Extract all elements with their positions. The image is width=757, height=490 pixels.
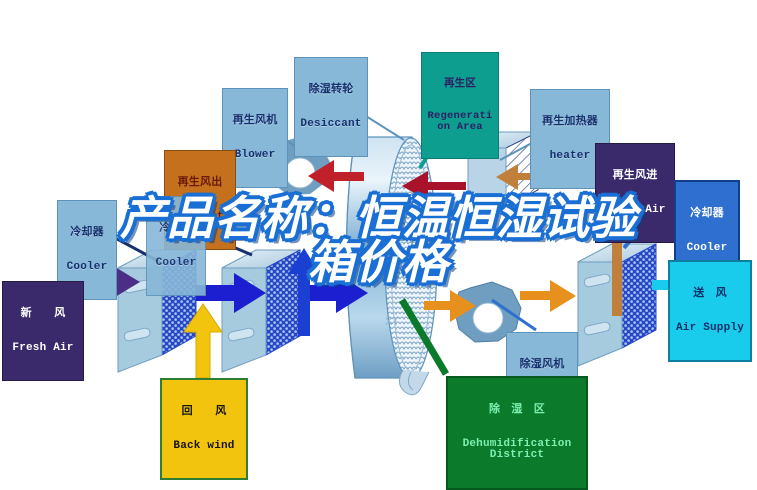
label-regeneration-area[interactable]: 再生区 Regenerati on Area (421, 52, 499, 159)
component-cooler-coil-2 (222, 250, 300, 372)
dehumidifier-schematic-diagram: XT (0, 0, 757, 488)
label-regeneration-inlet[interactable]: 再生风进 Fresh Air (595, 143, 675, 243)
arrow-blower-to-cooler (520, 280, 576, 312)
label-exhaust-cn: 再生风出 (167, 177, 233, 189)
label-desiccant-rotor-cn: 除湿转轮 (297, 84, 365, 96)
label-cooler-left-upper-en: Cooler (60, 262, 114, 274)
label-fresh-air[interactable]: 新 风 Fresh Air (2, 281, 84, 381)
label-back-wind[interactable]: 回 风 Back wind (160, 378, 248, 480)
label-air-supply[interactable]: 送 风 Air Supply (668, 260, 752, 362)
label-desiccant-rotor-en: Desiccant (297, 119, 365, 131)
label-regeneration-area-en: Regenerati on Area (424, 111, 496, 133)
label-cooler-left-upper-cn: 冷却器 (60, 227, 114, 239)
label-regeneration-inlet-en: Fresh Air (598, 205, 672, 217)
label-dehumidification-area[interactable]: 除 湿 区 Dehumidification District (446, 376, 588, 490)
label-dehumidify-blower-cn: 除湿风机 (509, 359, 575, 371)
label-air-supply-en: Air Supply (672, 323, 748, 335)
label-desiccant-rotor[interactable]: 除湿转轮 Desiccant (294, 57, 368, 157)
label-regeneration-inlet-cn: 再生风进 (598, 170, 672, 182)
label-back-wind-en: Back wind (164, 441, 244, 453)
label-cooler-right-cn: 冷却器 (678, 208, 736, 220)
label-cooler-left-lower[interactable]: 冷却器 Cooler (146, 196, 206, 296)
label-air-supply-cn: 送 风 (672, 288, 748, 300)
label-cooler-right-en: Cooler (678, 243, 736, 255)
label-dehumidification-area-cn: 除 湿 区 (450, 404, 584, 416)
label-fresh-air-cn: 新 风 (5, 308, 81, 320)
label-cooler-left-lower-cn: 冷却器 (149, 223, 203, 235)
label-cooler-left-lower-en: Cooler (149, 258, 203, 270)
label-dehumidification-area-en: Dehumidification District (450, 439, 584, 462)
label-regeneration-blower-cn: 再生风机 (225, 115, 285, 127)
label-regeneration-heater-cn: 再生加热器 (533, 116, 607, 128)
svg-text:XT: XT (385, 316, 399, 328)
label-back-wind-cn: 回 风 (164, 406, 244, 418)
label-regeneration-area-cn: 再生区 (424, 78, 496, 89)
label-fresh-air-en: Fresh Air (5, 343, 81, 355)
